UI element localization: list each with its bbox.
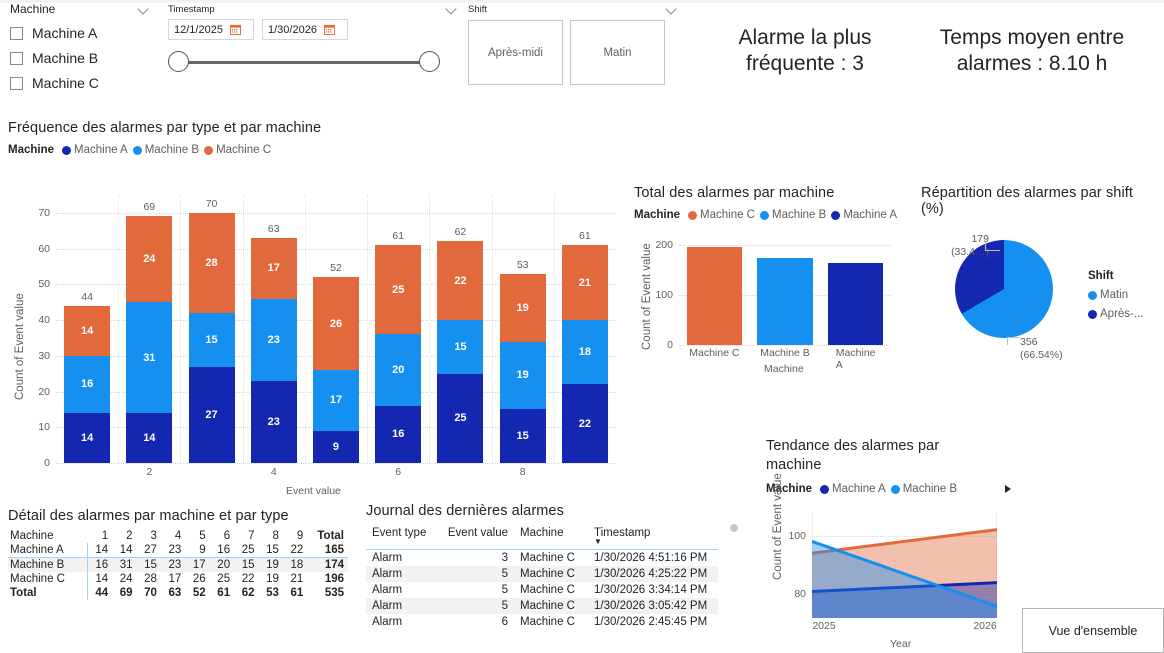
table-cell-timestamp: 1/30/2026 3:05:42 PM xyxy=(588,598,718,614)
legend-swatch-icon xyxy=(820,485,829,494)
y-tick-label: 100 xyxy=(788,530,806,542)
legend-label: Machine C xyxy=(700,209,755,221)
pie-callout-percent: (66.54%) xyxy=(1020,349,1080,362)
y-tick-label: 50 xyxy=(38,278,50,290)
legend-swatch-icon xyxy=(133,146,142,155)
table-cell-type: Alarm xyxy=(366,614,436,630)
scrollbar-thumb[interactable] xyxy=(730,524,738,532)
table-cell: 19 xyxy=(258,572,282,586)
legend-item-matin[interactable]: Matin xyxy=(1088,289,1143,301)
bar-segment[interactable]: 23 xyxy=(251,381,297,463)
pie-callout-value: 356 xyxy=(1020,336,1080,349)
table-cell: 69 xyxy=(112,586,136,600)
x-tick-label: Machine B xyxy=(760,347,810,359)
table-row[interactable]: Alarm5Machine C1/30/2026 3:34:14 PM xyxy=(366,582,718,598)
legend-swatch-icon xyxy=(891,485,900,494)
table-detail-alarmes: Détail des alarmes par machine et par ty… xyxy=(8,508,358,600)
pie-leader-line xyxy=(985,242,1000,251)
vertical-gridline xyxy=(367,195,368,463)
table-cell: 23 xyxy=(161,543,185,558)
legend-label: Machine B xyxy=(772,209,826,221)
table-cell-timestamp: 1/30/2026 2:45:45 PM xyxy=(588,614,718,630)
shift-tile-apres-midi[interactable]: Après-midi xyxy=(468,20,563,85)
x-axis-title: Year xyxy=(890,638,911,650)
table-cell: 62 xyxy=(234,586,258,600)
chevron-down-icon[interactable] xyxy=(446,3,458,15)
legend-label: Après-... xyxy=(1100,308,1143,320)
bar-total-label: 69 xyxy=(126,201,172,213)
calendar-icon[interactable] xyxy=(230,24,241,35)
table-cell-machine: Machine C xyxy=(514,598,588,614)
vertical-gridline xyxy=(492,195,493,463)
table-row[interactable]: Alarm3Machine C1/30/2026 4:51:16 PM xyxy=(366,549,718,566)
bar-segment[interactable]: 14 xyxy=(64,413,110,463)
checkbox-icon[interactable] xyxy=(10,77,23,90)
table-cell: 31 xyxy=(112,558,136,573)
bar-total-label: 44 xyxy=(64,291,110,303)
checkbox-icon[interactable] xyxy=(10,27,23,40)
column-header[interactable]: 9 xyxy=(283,529,307,543)
legend-label: Machine A xyxy=(832,483,886,495)
table-cell: 9 xyxy=(185,543,209,558)
grand-total: 535 xyxy=(307,586,348,600)
table-cell-machine: Machine C xyxy=(514,582,588,598)
table-cell: 22 xyxy=(283,543,307,558)
table-cell-machine: Machine C xyxy=(514,549,588,566)
x-tick-label: 2026 xyxy=(973,620,996,632)
bar-column[interactable]: 162025 xyxy=(375,245,421,463)
vertical-gridline xyxy=(554,195,555,463)
chart-total-par-machine: Total des alarmes par machine Machine Ma… xyxy=(634,185,919,221)
kpi-line-2: alarmes : 8.10 h xyxy=(912,51,1152,77)
checkbox-row-machine-b[interactable]: Machine B xyxy=(10,50,150,66)
row-total: 196 xyxy=(307,572,348,586)
legend-item-machine-b[interactable]: Machine B xyxy=(133,144,199,156)
column-header-label: Timestamp xyxy=(594,527,650,539)
pie-leader-line xyxy=(1007,337,1020,345)
table-cell: 25 xyxy=(210,572,234,586)
legend-swatch-icon xyxy=(760,211,769,220)
table-row[interactable]: Alarm5Machine C1/30/2026 3:05:42 PM xyxy=(366,598,718,614)
date-end-input[interactable]: 1/30/2026 xyxy=(262,19,348,40)
table-row[interactable]: Alarm5Machine C1/30/2026 4:25:22 PM xyxy=(366,566,718,582)
x-tick-label: 2 xyxy=(146,466,152,478)
bar-segment[interactable]: 24 xyxy=(126,216,172,302)
bar-column[interactable]: 271528 xyxy=(189,213,235,463)
bar-segment[interactable]: 31 xyxy=(126,302,172,413)
table-row[interactable]: Alarm6Machine C1/30/2026 2:45:45 PM xyxy=(366,614,718,630)
table-cell: 52 xyxy=(185,586,209,600)
y-tick-label: 200 xyxy=(655,239,673,251)
chart-repartition-shift: Répartition des alarmes par shift (%) xyxy=(921,185,1156,217)
bar-column[interactable]: 221821 xyxy=(562,245,608,463)
table-cell: 27 xyxy=(137,543,161,558)
bar-column[interactable] xyxy=(757,258,812,345)
kpi-card-alarme-frequente: Alarme la plus fréquente : 3 xyxy=(700,25,910,78)
table-cell: 17 xyxy=(161,572,185,586)
legend-label: Matin xyxy=(1100,289,1128,301)
x-axis-title: Event value xyxy=(286,485,341,497)
kpi-line-2: fréquente : 3 xyxy=(700,51,910,77)
table-cell: 15 xyxy=(234,558,258,573)
overview-button[interactable]: Vue d'ensemble xyxy=(1022,608,1164,653)
chart-title: Tendance des alarmes par machine xyxy=(766,437,966,475)
legend-item-apres-midi[interactable]: Après-... xyxy=(1088,308,1143,320)
journal-body[interactable]: Alarm3Machine C1/30/2026 4:51:16 PMAlarm… xyxy=(366,549,718,630)
table-title: Détail des alarmes par machine et par ty… xyxy=(8,508,358,524)
y-tick-label: 0 xyxy=(667,339,673,351)
table-row[interactable]: Machine C142428172625221921196 xyxy=(8,572,348,586)
legend-item-machine-c[interactable]: Machine C xyxy=(204,144,271,156)
slicer-shift-header: Shift xyxy=(468,3,678,15)
kpi-line-1: Alarme la plus xyxy=(700,25,910,51)
slicer-timestamp-header: Timestamp xyxy=(168,3,458,15)
bar-segment[interactable]: 19 xyxy=(500,274,546,342)
play-right-icon[interactable] xyxy=(1005,485,1011,493)
bar-segment[interactable]: 19 xyxy=(500,342,546,410)
bar-segment[interactable]: 16 xyxy=(64,356,110,413)
column-header[interactable]: Timestamp▼ xyxy=(588,525,718,547)
bar-segment[interactable]: 21 xyxy=(562,245,608,320)
vertical-gridline xyxy=(429,195,430,463)
slider-track[interactable] xyxy=(182,61,426,64)
y-tick-label: 80 xyxy=(794,588,806,600)
slicer-machine-header: Machine xyxy=(10,2,150,16)
table-cell: 14 xyxy=(87,543,112,558)
detail-matrix-head: Machine123456789Total xyxy=(8,529,348,543)
table-row[interactable]: Machine B163115231720151918174 xyxy=(8,558,348,573)
detail-matrix[interactable]: Machine123456789Total Machine A141427239… xyxy=(8,529,348,600)
bar-chart-2-plot-area[interactable] xyxy=(679,238,891,345)
bar-segment[interactable]: 22 xyxy=(562,384,608,463)
table-cell-type: Alarm xyxy=(366,549,436,566)
table-cell: 18 xyxy=(283,558,307,573)
column-header[interactable]: Machine xyxy=(514,525,588,547)
x-tick-label: 6 xyxy=(395,466,401,478)
bar-segment[interactable]: 26 xyxy=(313,277,359,370)
slicer-timestamp[interactable]: Timestamp 12/1/2025 1/30/2026 xyxy=(168,3,458,73)
y-tick-label: 0 xyxy=(44,457,50,469)
checkbox-icon[interactable] xyxy=(10,52,23,65)
bar-segment[interactable]: 27 xyxy=(189,367,235,463)
bar-segment[interactable]: 20 xyxy=(375,334,421,405)
bar-segment[interactable]: 18 xyxy=(562,320,608,384)
x-axis-ticks: 20252026 xyxy=(812,620,997,634)
legend-label: Machine B xyxy=(145,144,199,156)
vertical-gridline xyxy=(305,195,306,463)
column-header-label: Event value xyxy=(448,527,508,539)
bar-total-label: 52 xyxy=(313,262,359,274)
table-cell-type: Alarm xyxy=(366,582,436,598)
date-start-input[interactable]: 12/1/2025 xyxy=(168,19,254,40)
vertical-gridline xyxy=(243,195,244,463)
slicer-machine[interactable]: Machine Machine A Machine B Machine C xyxy=(10,2,150,91)
bar-column[interactable] xyxy=(828,263,883,345)
gridline xyxy=(56,463,616,464)
slider-handle-left[interactable] xyxy=(168,51,189,72)
table-cell-type: Alarm xyxy=(366,566,436,582)
table-cell-timestamp: 1/30/2026 4:25:22 PM xyxy=(588,566,718,582)
bar-segment[interactable]: 15 xyxy=(500,409,546,463)
pie-callout-percent: (33.4…) xyxy=(939,246,989,259)
x-tick-label: 4 xyxy=(271,466,277,478)
table-cell-value: 5 xyxy=(436,582,514,598)
bar-segment[interactable]: 15 xyxy=(189,313,235,367)
table-cell: 16 xyxy=(87,558,112,573)
table-cell: 23 xyxy=(161,558,185,573)
pie-callout-apres-midi: 179 (33.4…) xyxy=(939,233,989,259)
column-header[interactable]: Event type xyxy=(366,525,436,547)
bar-segment[interactable]: 28 xyxy=(189,213,235,313)
table-cell-machine: Machine C xyxy=(514,566,588,582)
legend-label: Machine C xyxy=(216,144,271,156)
slicer-timestamp-title: Timestamp xyxy=(168,4,215,15)
table-cell: 14 xyxy=(112,543,136,558)
detail-matrix-body[interactable]: Machine A14142723916251522165Machine B16… xyxy=(8,543,348,600)
chart-title: Total des alarmes par machine xyxy=(634,185,919,201)
checkbox-label: Machine C xyxy=(32,75,99,91)
gridline xyxy=(679,245,891,246)
chart-title: Répartition des alarmes par shift (%) xyxy=(921,185,1156,217)
y-tick-label: 70 xyxy=(38,207,50,219)
bar-segment[interactable]: 23 xyxy=(251,299,297,381)
table-cell-value: 3 xyxy=(436,549,514,566)
legend-swatch-icon xyxy=(62,146,71,155)
column-header[interactable]: Event value xyxy=(436,525,514,547)
column-header[interactable]: 2 xyxy=(112,529,136,543)
table-cell: 26 xyxy=(185,572,209,586)
table-cell: 20 xyxy=(210,558,234,573)
legend-title: Machine xyxy=(8,144,54,156)
column-header[interactable]: 1 xyxy=(87,529,112,543)
kpi-line-1: Temps moyen entre xyxy=(912,25,1152,51)
bar-total-label: 53 xyxy=(500,259,546,271)
table-cell: 14 xyxy=(87,572,112,586)
bar-column[interactable]: 251522 xyxy=(437,241,483,463)
slicer-shift-title: Shift xyxy=(468,4,487,15)
bar-total-label: 61 xyxy=(562,230,608,242)
table-cell: 19 xyxy=(258,558,282,573)
x-tick-label: Machine A xyxy=(836,347,876,371)
bar-segment[interactable]: 17 xyxy=(251,238,297,299)
y-tick-label: 100 xyxy=(655,289,673,301)
table-cell: 16 xyxy=(210,543,234,558)
checkbox-label: Machine A xyxy=(32,25,97,41)
bar-column[interactable]: 232317 xyxy=(251,238,297,463)
slicer-shift[interactable]: Shift Après-midi Matin xyxy=(468,3,678,85)
table-cell-timestamp: 1/30/2026 4:51:16 PM xyxy=(588,549,718,566)
y-tick-label: 20 xyxy=(38,386,50,398)
table-title: Journal des dernières alarmes xyxy=(366,503,726,519)
chart-frequence-alarmes: Fréquence des alarmes par type et par ma… xyxy=(8,120,321,156)
row-total: 174 xyxy=(307,558,348,573)
y-axis-ticks: 010203040506070 xyxy=(20,180,50,470)
column-header[interactable]: 4 xyxy=(161,529,185,543)
date-range-slider[interactable] xyxy=(168,51,440,73)
legend-item-machine-a[interactable]: Machine A xyxy=(831,209,897,221)
column-header[interactable]: Total xyxy=(307,529,348,543)
legend-swatch-icon xyxy=(688,211,697,220)
slider-handle-right[interactable] xyxy=(419,51,440,72)
date-end-value: 1/30/2026 xyxy=(268,24,317,36)
table-cell: 44 xyxy=(87,586,112,600)
column-header[interactable]: 6 xyxy=(210,529,234,543)
trend-legend: Machine Machine A Machine B xyxy=(766,483,1011,495)
x-axis-title: Machine xyxy=(764,363,804,375)
column-header[interactable]: 3 xyxy=(137,529,161,543)
bar-segment[interactable]: 22 xyxy=(437,241,483,320)
column-header-label: Event type xyxy=(372,527,426,539)
table-cell: 21 xyxy=(283,572,307,586)
x-tick-label: Machine C xyxy=(689,347,739,359)
bar-segment[interactable]: 14 xyxy=(126,413,172,463)
table-cell: 24 xyxy=(112,572,136,586)
table-cell-value: 6 xyxy=(436,614,514,630)
legend-swatch-icon xyxy=(831,211,840,220)
chevron-down-icon[interactable] xyxy=(138,3,150,15)
bar-column[interactable]: 91726 xyxy=(313,277,359,463)
dashboard-page: Machine Machine A Machine B Machine C Ti… xyxy=(0,0,1164,653)
bar-total-label: 70 xyxy=(189,198,235,210)
calendar-icon[interactable] xyxy=(324,24,335,35)
table-cell: 53 xyxy=(258,586,282,600)
table-total-row: Total446970635261625361535 xyxy=(8,586,348,600)
bar-segment[interactable]: 14 xyxy=(64,306,110,356)
y-tick-label: 30 xyxy=(38,350,50,362)
bar-total-label: 62 xyxy=(437,226,483,238)
y-tick-label: 40 xyxy=(38,314,50,326)
trend-series-group xyxy=(812,512,997,618)
bar-column[interactable] xyxy=(687,247,742,345)
row-label: Machine B xyxy=(8,558,87,573)
legend-item-machine-a[interactable]: Machine A xyxy=(62,144,128,156)
chart-tendance-alarmes: Tendance des alarmes par machine xyxy=(766,437,966,475)
journal-table[interactable]: Event typeEvent valueMachineTimestamp▼ A… xyxy=(366,525,718,630)
gridline xyxy=(679,345,891,346)
bar-segment[interactable]: 25 xyxy=(437,374,483,463)
y-tick-label: 10 xyxy=(38,421,50,433)
pie-legend: Shift Matin Après-... xyxy=(1088,270,1143,320)
legend-label: Machine B xyxy=(903,483,957,495)
bar-column[interactable]: 151919 xyxy=(500,274,546,463)
bar-segment[interactable]: 15 xyxy=(437,320,483,374)
legend-item-machine-a[interactable]: Machine A xyxy=(820,483,886,495)
chart-legend: Machine Machine A Machine B Machine C xyxy=(8,144,321,156)
legend-label: Machine A xyxy=(74,144,128,156)
legend-swatch-icon xyxy=(1088,291,1097,300)
table-cell: 15 xyxy=(137,558,161,573)
table-cell: 25 xyxy=(234,543,258,558)
table-cell-type: Alarm xyxy=(366,598,436,614)
column-header[interactable]: Machine xyxy=(8,529,87,543)
row-label: Machine C xyxy=(8,572,87,586)
bar-chart-plot-area[interactable]: 1416144414312469271528702323176391726521… xyxy=(56,195,616,463)
y-tick-label: 60 xyxy=(38,243,50,255)
table-header-row: Machine123456789Total xyxy=(8,529,348,543)
table-cell-value: 5 xyxy=(436,566,514,582)
checkbox-row-machine-a[interactable]: Machine A xyxy=(10,25,150,41)
row-total: 165 xyxy=(307,543,348,558)
row-label: Total xyxy=(8,586,87,600)
date-start-value: 12/1/2025 xyxy=(174,24,223,36)
table-cell: 61 xyxy=(283,586,307,600)
table-cell-value: 5 xyxy=(436,598,514,614)
legend-item-machine-b[interactable]: Machine B xyxy=(891,483,957,495)
legend-label: Machine A xyxy=(843,209,897,221)
vertical-gridline xyxy=(180,195,181,463)
sort-desc-icon[interactable]: ▼ xyxy=(594,539,712,545)
table-cell: 63 xyxy=(161,586,185,600)
y-axis-ticks: 0100200 xyxy=(645,230,673,350)
table-cell: 22 xyxy=(234,572,258,586)
trend-plot-area[interactable] xyxy=(812,512,997,618)
x-axis-ticks: 2468 xyxy=(56,466,616,482)
table-cell: 61 xyxy=(210,586,234,600)
journal-head: Event typeEvent valueMachineTimestamp▼ xyxy=(366,525,718,549)
legend-item-machine-b[interactable]: Machine B xyxy=(760,209,826,221)
bar-total-label: 61 xyxy=(375,230,421,242)
vertical-gridline xyxy=(118,195,119,463)
legend-item-machine-c[interactable]: Machine C xyxy=(688,209,755,221)
legend-title: Machine xyxy=(634,209,680,221)
x-tick-label: 8 xyxy=(520,466,526,478)
legend-title: Shift xyxy=(1088,270,1143,282)
table-row[interactable]: Machine A14142723916251522165 xyxy=(8,543,348,558)
bar-segment[interactable]: 25 xyxy=(375,245,421,334)
bar-segment[interactable]: 16 xyxy=(375,406,421,463)
bar-column[interactable]: 141614 xyxy=(64,306,110,463)
x-axis-ticks: Machine CMachine BMachine A xyxy=(679,347,891,363)
shift-tile-matin[interactable]: Matin xyxy=(570,20,665,85)
checkbox-label: Machine B xyxy=(32,50,98,66)
bar-segment[interactable]: 9 xyxy=(313,431,359,463)
table-cell: 70 xyxy=(137,586,161,600)
kpi-card-temps-moyen: Temps moyen entre alarmes : 8.10 h xyxy=(912,25,1152,78)
bar-segment[interactable]: 17 xyxy=(313,370,359,431)
pie-callout-value: 179 xyxy=(939,233,989,246)
chart-title: Fréquence des alarmes par type et par ma… xyxy=(8,120,321,136)
table-cell-machine: Machine C xyxy=(514,614,588,630)
column-header[interactable]: 5 xyxy=(185,529,209,543)
shift-tiles[interactable]: Après-midi Matin xyxy=(468,20,678,85)
table-cell: 15 xyxy=(258,543,282,558)
column-header[interactable]: 8 xyxy=(258,529,282,543)
chart-legend: Machine Machine C Machine B Machine A xyxy=(634,209,919,221)
slicer-machine-title: Machine xyxy=(10,2,55,16)
legend-swatch-icon xyxy=(204,146,213,155)
column-header-label: Machine xyxy=(520,527,563,539)
table-cell-timestamp: 1/30/2026 3:34:14 PM xyxy=(588,582,718,598)
table-cell: 28 xyxy=(137,572,161,586)
table-cell: 17 xyxy=(185,558,209,573)
y-axis-ticks: 80100 xyxy=(778,510,806,620)
row-label: Machine A xyxy=(8,543,87,558)
checkbox-row-machine-c[interactable]: Machine C xyxy=(10,75,150,91)
table-header-row[interactable]: Event typeEvent valueMachineTimestamp▼ xyxy=(366,525,718,547)
date-range-inputs[interactable]: 12/1/2025 1/30/2026 xyxy=(168,19,458,40)
pie-callout-matin: 356 (66.54%) xyxy=(1020,336,1080,362)
legend-swatch-icon xyxy=(1088,310,1097,319)
table-journal-alarmes: Journal des dernières alarmes Event type… xyxy=(366,503,726,630)
column-header[interactable]: 7 xyxy=(234,529,258,543)
bar-total-label: 63 xyxy=(251,223,297,235)
chevron-down-icon[interactable] xyxy=(666,3,678,15)
x-tick-label: 2025 xyxy=(812,620,835,632)
bar-column[interactable]: 143124 xyxy=(126,216,172,463)
